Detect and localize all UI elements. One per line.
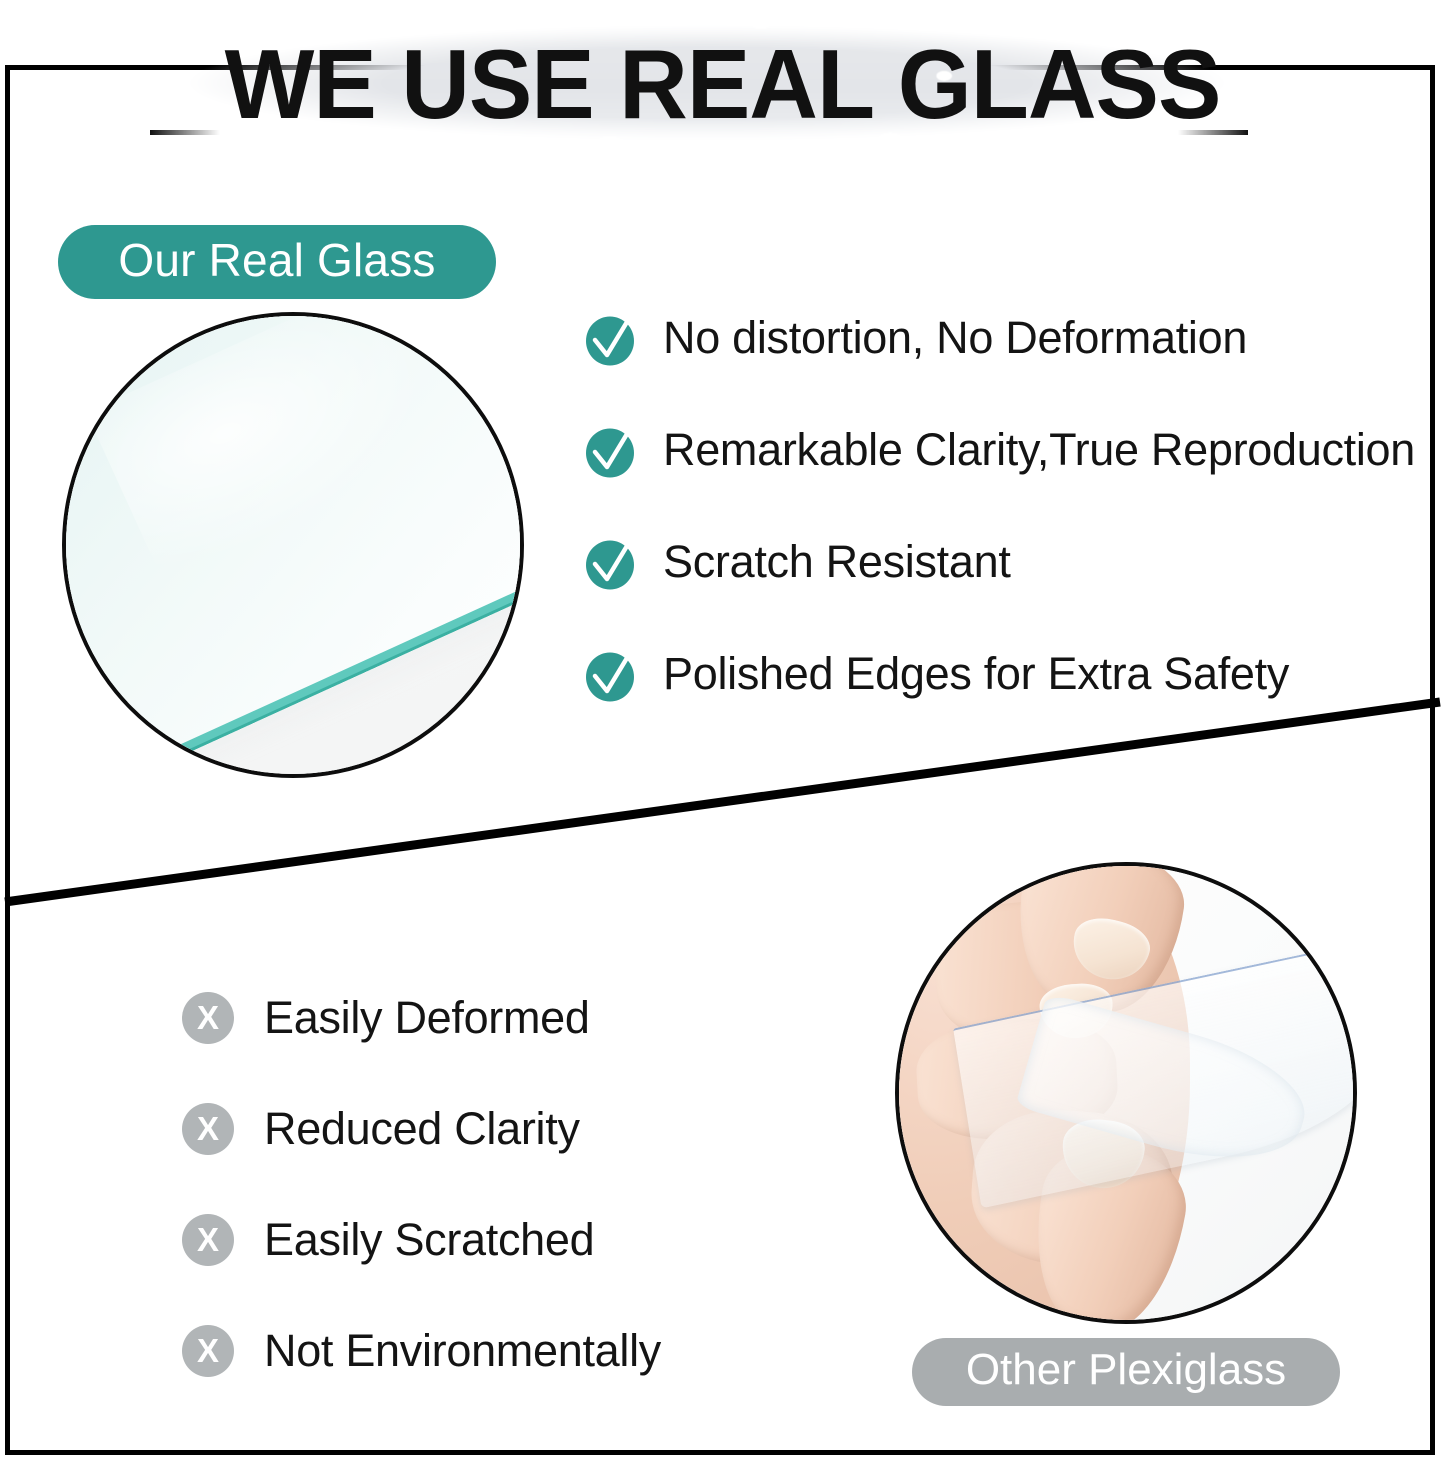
badge-our-real-glass: Our Real Glass	[58, 225, 496, 299]
drawback-item: X Reduced Clarity	[182, 1073, 661, 1184]
feature-label: Remarkable Clarity,True Reproduction	[663, 424, 1415, 476]
check-circle-icon	[585, 534, 637, 590]
real-glass-feature-list: No distortion, No Deformation Remarkable…	[585, 282, 1425, 730]
drawback-item: X Not Environmentally	[182, 1295, 661, 1406]
feature-item: No distortion, No Deformation	[585, 282, 1425, 394]
check-circle-icon	[585, 310, 637, 366]
x-circle-icon: X	[182, 1325, 234, 1377]
plexiglass-photo	[895, 862, 1357, 1324]
x-circle-icon: X	[182, 1103, 234, 1155]
drawback-item: X Easily Scratched	[182, 1184, 661, 1295]
badge-our-real-glass-label: Our Real Glass	[118, 237, 435, 287]
x-circle-icon: X	[182, 992, 234, 1044]
drawback-label: Easily Deformed	[264, 992, 590, 1044]
badge-other-plexiglass-label: Other Plexiglass	[966, 1348, 1286, 1396]
drawback-item: X Easily Deformed	[182, 962, 661, 1073]
real-glass-photo	[62, 312, 524, 778]
check-circle-icon	[585, 646, 637, 702]
badge-other-plexiglass: Other Plexiglass	[912, 1338, 1340, 1406]
feature-item: Remarkable Clarity,True Reproduction	[585, 394, 1425, 506]
feature-label: No distortion, No Deformation	[663, 312, 1247, 364]
page-title: WE USE REAL GLASS	[22, 28, 1424, 140]
drawback-label: Not Environmentally	[264, 1325, 661, 1377]
drawback-label: Reduced Clarity	[264, 1103, 580, 1155]
feature-label: Polished Edges for Extra Safety	[663, 648, 1289, 700]
plexiglass-drawback-list: X Easily Deformed X Reduced Clarity X Ea…	[182, 962, 661, 1406]
check-circle-icon	[585, 422, 637, 478]
feature-item: Polished Edges for Extra Safety	[585, 618, 1425, 730]
feature-item: Scratch Resistant	[585, 506, 1425, 618]
drawback-label: Easily Scratched	[264, 1214, 594, 1266]
x-circle-icon: X	[182, 1214, 234, 1266]
feature-label: Scratch Resistant	[663, 536, 1011, 588]
